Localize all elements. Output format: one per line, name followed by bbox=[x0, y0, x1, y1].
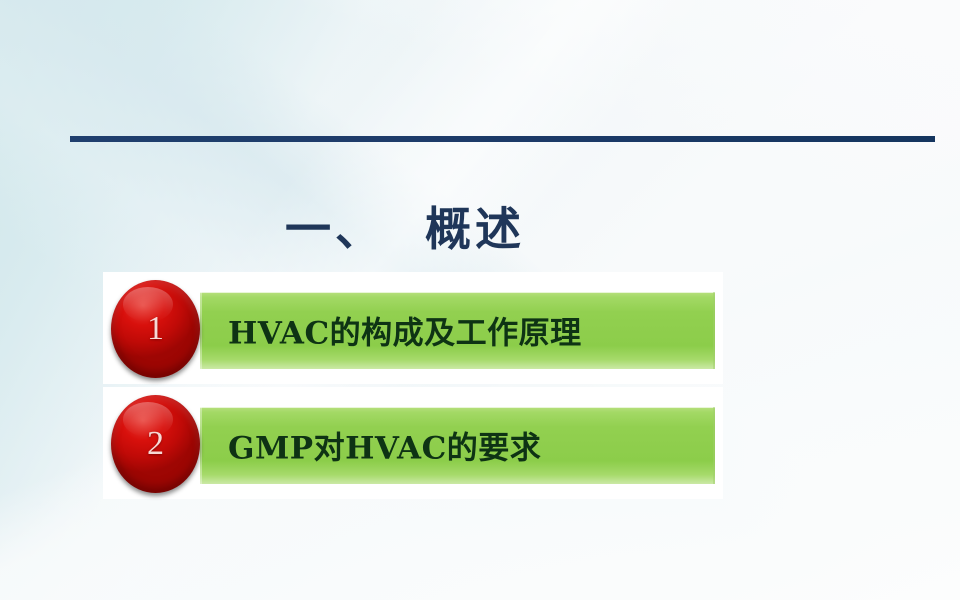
agenda-number-text: 1 bbox=[111, 280, 200, 378]
header-divider-rule bbox=[70, 136, 935, 142]
agenda-item-label: HVAC的构成及工作原理 bbox=[228, 307, 582, 352]
agenda-number-badge: 2 bbox=[111, 395, 200, 493]
agenda-number-badge: 1 bbox=[111, 280, 200, 378]
agenda-bar[interactable]: HVAC的构成及工作原理 bbox=[200, 292, 715, 369]
page-title: 一、 概述 bbox=[0, 193, 810, 259]
list-item[interactable]: GMP对HVAC的要求 2 bbox=[103, 387, 723, 499]
agenda-number-text: 2 bbox=[111, 395, 200, 493]
agenda-item-label: GMP对HVAC的要求 bbox=[228, 422, 541, 467]
agenda-bar[interactable]: GMP对HVAC的要求 bbox=[200, 407, 715, 484]
list-item[interactable]: HVAC的构成及工作原理 1 bbox=[103, 272, 723, 384]
slide-canvas: 一、 概述 HVAC的构成及工作原理 1 GMP对HVAC的要求 2 bbox=[0, 0, 960, 600]
